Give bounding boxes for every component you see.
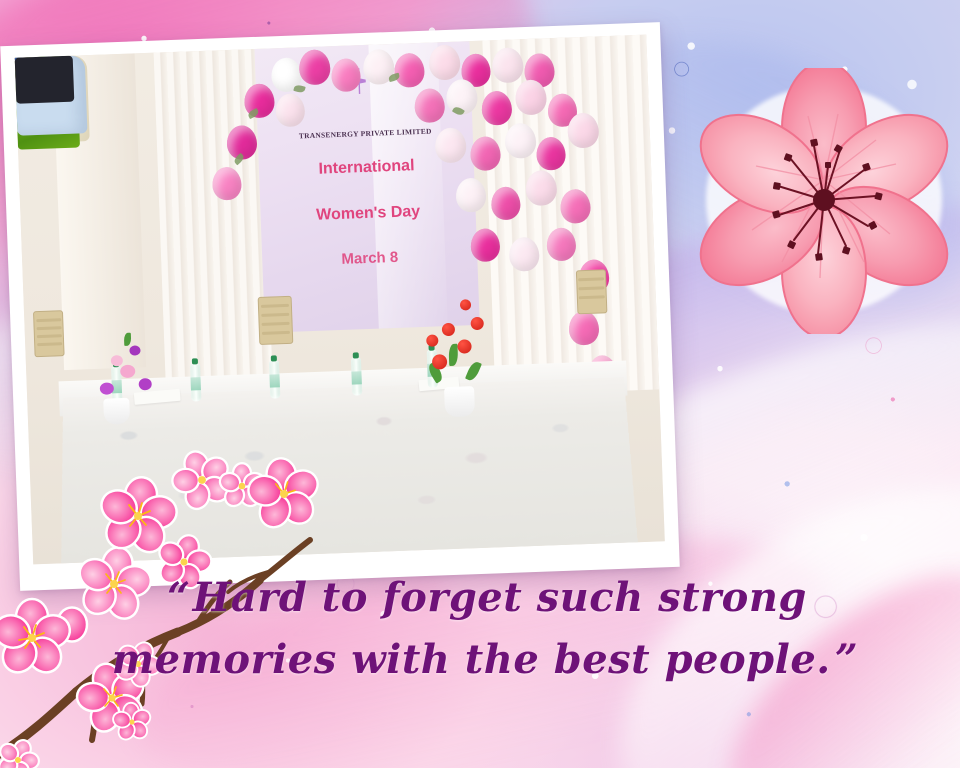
purple-flower: [129, 345, 140, 355]
plastic-chair: [33, 310, 65, 357]
water-bottle: [351, 357, 362, 395]
balloon: [568, 310, 599, 345]
balloon: [470, 136, 501, 171]
purple-flower: [99, 382, 113, 395]
red-rose: [460, 299, 471, 310]
plastic-chair: [257, 296, 293, 345]
balloon: [481, 90, 512, 125]
memory-card: TRANSENERGY PRIVATE LIMITED Internationa…: [0, 0, 960, 768]
balloon: [491, 186, 521, 220]
pink-flower: [110, 355, 122, 366]
cherry-blossom-branch: [0, 440, 322, 768]
rose-vase: [444, 386, 475, 417]
water-bottle: [269, 360, 280, 398]
balloon: [546, 227, 576, 261]
balloon: [525, 170, 557, 206]
plastic-chair: [576, 269, 608, 314]
leaf-icon: [123, 332, 130, 345]
flower-vase: [103, 398, 130, 425]
water-bottle: [190, 363, 201, 401]
cherry-blossom-flower: [690, 68, 958, 334]
